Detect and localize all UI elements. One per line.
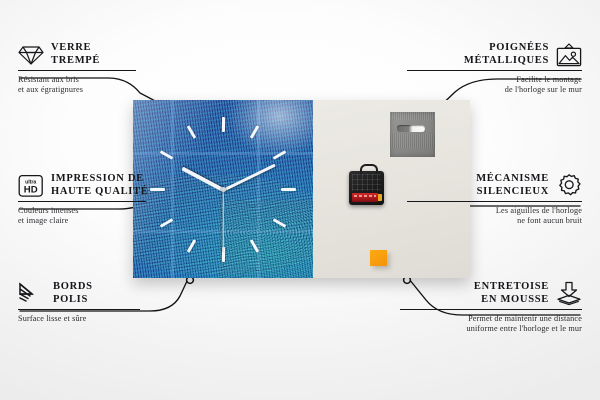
feature-divider <box>400 309 582 310</box>
feature-divider <box>18 201 146 202</box>
feature-header: MÉCANISME SILENCIEUX <box>407 173 582 198</box>
feature-title: ENTRETOISE EN MOUSSE <box>474 281 549 306</box>
clock-center-hub <box>221 187 226 192</box>
feature-poignees-metalliques: POIGNÉES MÉTALLIQUES Facilite le montage… <box>407 42 582 95</box>
diamond-icon <box>18 44 44 66</box>
battery-label <box>354 195 376 197</box>
foam-spacer <box>370 250 387 266</box>
feature-divider <box>18 70 136 71</box>
feature-header: ultra HD IMPRESSION DE HAUTE QUALITÉ <box>18 173 193 198</box>
clock-wave-pattern-2 <box>219 200 313 278</box>
polished-edges-icon <box>18 282 46 306</box>
mechanism-texture <box>352 174 381 191</box>
feature-header: BORDS POLIS <box>18 281 193 306</box>
feature-title: IMPRESSION DE HAUTE QUALITÉ <box>51 173 149 198</box>
clock-second-hand <box>222 190 223 252</box>
feature-entretoise-en-mousse: ENTRETOISE EN MOUSSE Permet de maintenir… <box>400 281 582 334</box>
hanger-keyhole-slot <box>397 125 425 132</box>
clock-tick <box>281 188 296 191</box>
feature-title: MÉCANISME SILENCIEUX <box>476 173 549 198</box>
ultra-hd-icon: ultra HD <box>18 174 44 198</box>
feature-header: ENTRETOISE EN MOUSSE <box>400 281 582 306</box>
clock-tick <box>222 117 225 132</box>
feature-divider <box>407 201 582 202</box>
clock-highlight <box>227 100 313 157</box>
clock-mechanism <box>349 171 384 205</box>
feature-divider <box>18 309 140 310</box>
feature-description-line-1: Résistant aux bris <box>18 75 193 85</box>
feature-description-line-2: ne font aucun bruit <box>407 216 582 226</box>
feature-description-line-1: Surface lisse et sûre <box>18 314 193 324</box>
feature-title: VERRE TREMPÉ <box>51 42 100 67</box>
feature-header: VERRE TREMPÉ <box>18 42 193 67</box>
metal-hanger-plate <box>390 112 435 157</box>
battery <box>352 193 378 202</box>
picture-hanger-icon <box>556 43 582 67</box>
feature-description-line-2: de l'horloge sur le mur <box>407 85 582 95</box>
feature-description-line-2: et image claire <box>18 216 193 226</box>
feature-description-line-1: Les aiguilles de l'horloge <box>407 206 582 216</box>
feature-divider <box>407 70 582 71</box>
foam-spacer-icon <box>556 281 582 306</box>
feature-header: POIGNÉES MÉTALLIQUES <box>407 42 582 67</box>
feature-title: BORDS POLIS <box>53 281 93 306</box>
feature-bords-polis: BORDS POLIS Surface lisse et sûre <box>18 281 193 324</box>
feature-mecanisme-silencieux: MÉCANISME SILENCIEUX Les aiguilles de l'… <box>407 173 582 226</box>
feature-description-line-2: uniforme entre l'horloge et le mur <box>400 324 582 334</box>
feature-description-line-1: Facilite le montage <box>407 75 582 85</box>
gear-icon <box>556 173 582 198</box>
svg-text:HD: HD <box>24 184 38 195</box>
feature-title: POIGNÉES MÉTALLIQUES <box>464 42 549 67</box>
feature-description-line-1: Permet de maintenir une distance <box>400 314 582 324</box>
feature-impression-hd: ultra HD IMPRESSION DE HAUTE QUALITÉ Cou… <box>18 173 193 226</box>
feature-description-line-1: Couleurs intenses <box>18 206 193 216</box>
feature-verre-trempe: VERRE TREMPÉ Résistant aux bris et aux é… <box>18 42 193 95</box>
infographic-canvas: VERRE TREMPÉ Résistant aux bris et aux é… <box>0 0 600 400</box>
feature-description-line-2: et aux égratignures <box>18 85 193 95</box>
